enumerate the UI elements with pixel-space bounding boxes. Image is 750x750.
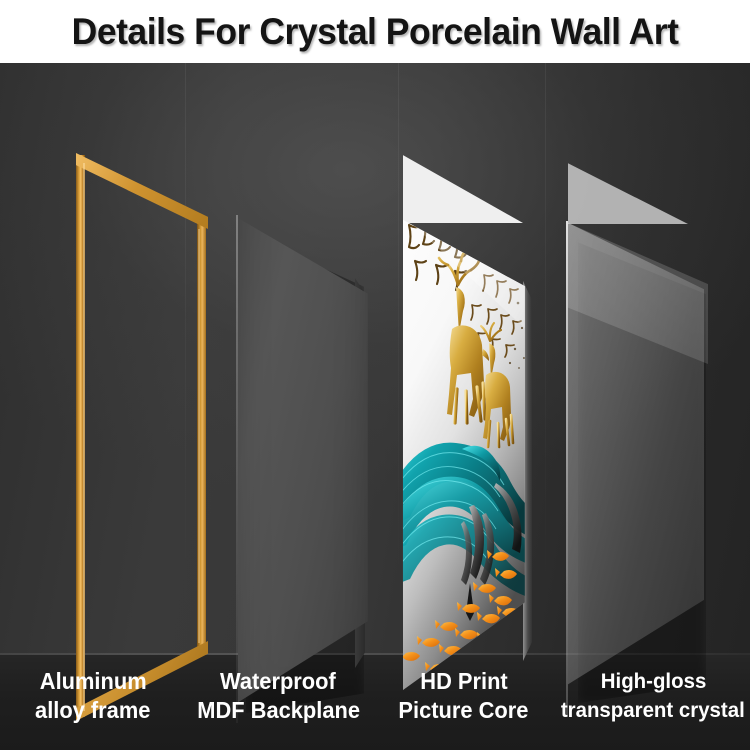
product-detail-image: Details For Crystal Porcelain Wall Art <box>0 0 750 750</box>
frame-bevel-right <box>198 229 200 643</box>
caption-waterproof-mdf-backplane: Waterproof MDF Backplane <box>185 663 370 750</box>
caption-line-1: Aluminum <box>39 667 146 696</box>
caption-line-2: Picture Core <box>399 696 529 725</box>
caption-line-2: MDF Backplane <box>197 696 360 725</box>
frame-bevel-left <box>83 163 85 711</box>
caption-row: Aluminum alloy frame Waterproof MDF Back… <box>0 663 750 750</box>
caption-line-1: High-gloss <box>600 667 706 696</box>
product-scene <box>0 63 750 750</box>
header-banner: Details For Crystal Porcelain Wall Art <box>0 0 750 63</box>
crystal-front-edge-highlight <box>566 221 568 717</box>
caption-line-2: transparent crystal <box>561 696 745 725</box>
frame-rail-top <box>76 153 208 229</box>
layer-aluminum-alloy-frame <box>68 143 228 733</box>
caption-high-gloss-transparent-crystal: High-gloss transparent crystal <box>556 663 750 750</box>
caption-hd-print-picture-core: HD Print Picture Core <box>371 663 556 750</box>
caption-line-1: Waterproof <box>220 667 336 696</box>
caption-aluminum-alloy-frame: Aluminum alloy frame <box>0 663 185 750</box>
caption-line-1: HD Print <box>420 667 507 696</box>
wall-seam-center <box>398 63 399 583</box>
wall-seam-right <box>545 63 546 593</box>
caption-line-2: alloy frame <box>35 696 150 725</box>
mdf-backplane-front-edge <box>236 215 238 723</box>
page-title: Details For Crystal Porcelain Wall Art <box>72 13 679 50</box>
